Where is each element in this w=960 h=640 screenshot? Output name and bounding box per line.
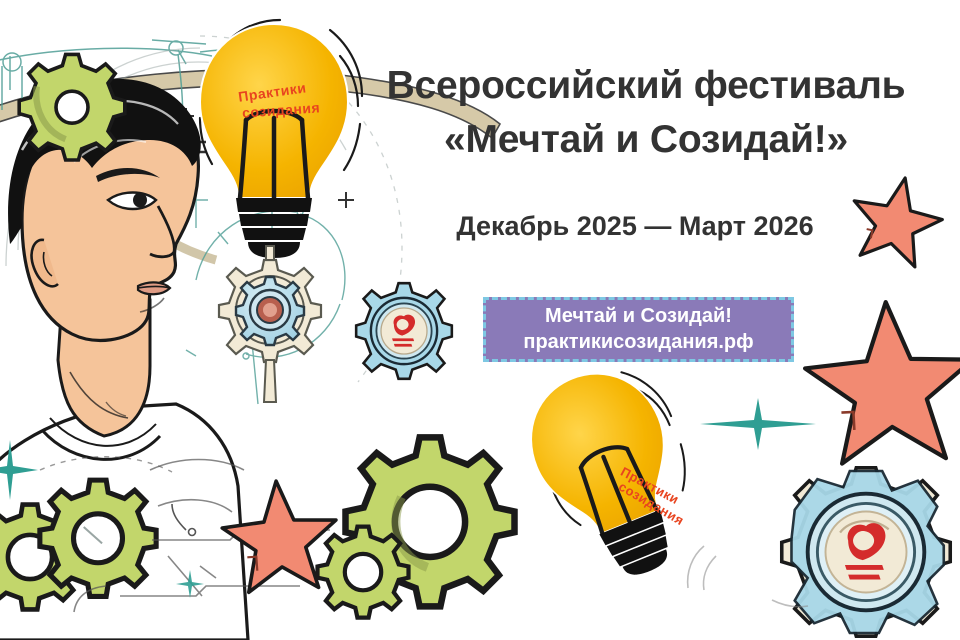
gear-detail-head	[219, 246, 321, 402]
website-callout-box[interactable]: Мечтай и Созидай! практикисозидания.рф	[483, 297, 794, 362]
title-line-2: «Мечтай и Созидай!»	[434, 112, 858, 168]
gear-shirt-right	[40, 480, 156, 596]
star-large-right	[802, 298, 960, 466]
gear-green-small	[318, 527, 409, 618]
bulb-bottom	[511, 350, 722, 596]
callout-slogan: Мечтай и Созидай!	[545, 304, 732, 329]
bulb-top	[200, 20, 362, 258]
date-range: Декабрь 2025 — Март 2026	[438, 205, 831, 247]
date-range-wrapper: Декабрь 2025 — Март 2026	[400, 205, 870, 247]
title-line-1: Всероссийский фестиваль	[377, 58, 916, 114]
poster-title: Всероссийский фестиваль «Мечтай и Созида…	[340, 58, 952, 168]
festival-poster: Практики созидания Практики созидания Вс…	[0, 0, 960, 640]
gear-green-topleft	[19, 54, 125, 160]
gear-blue-emblem-large	[782, 468, 950, 636]
callout-website-url[interactable]: практикисозидания.рф	[523, 329, 753, 355]
gear-blue-emblem-small	[356, 283, 452, 379]
sparkle-icon-mid	[700, 398, 816, 450]
